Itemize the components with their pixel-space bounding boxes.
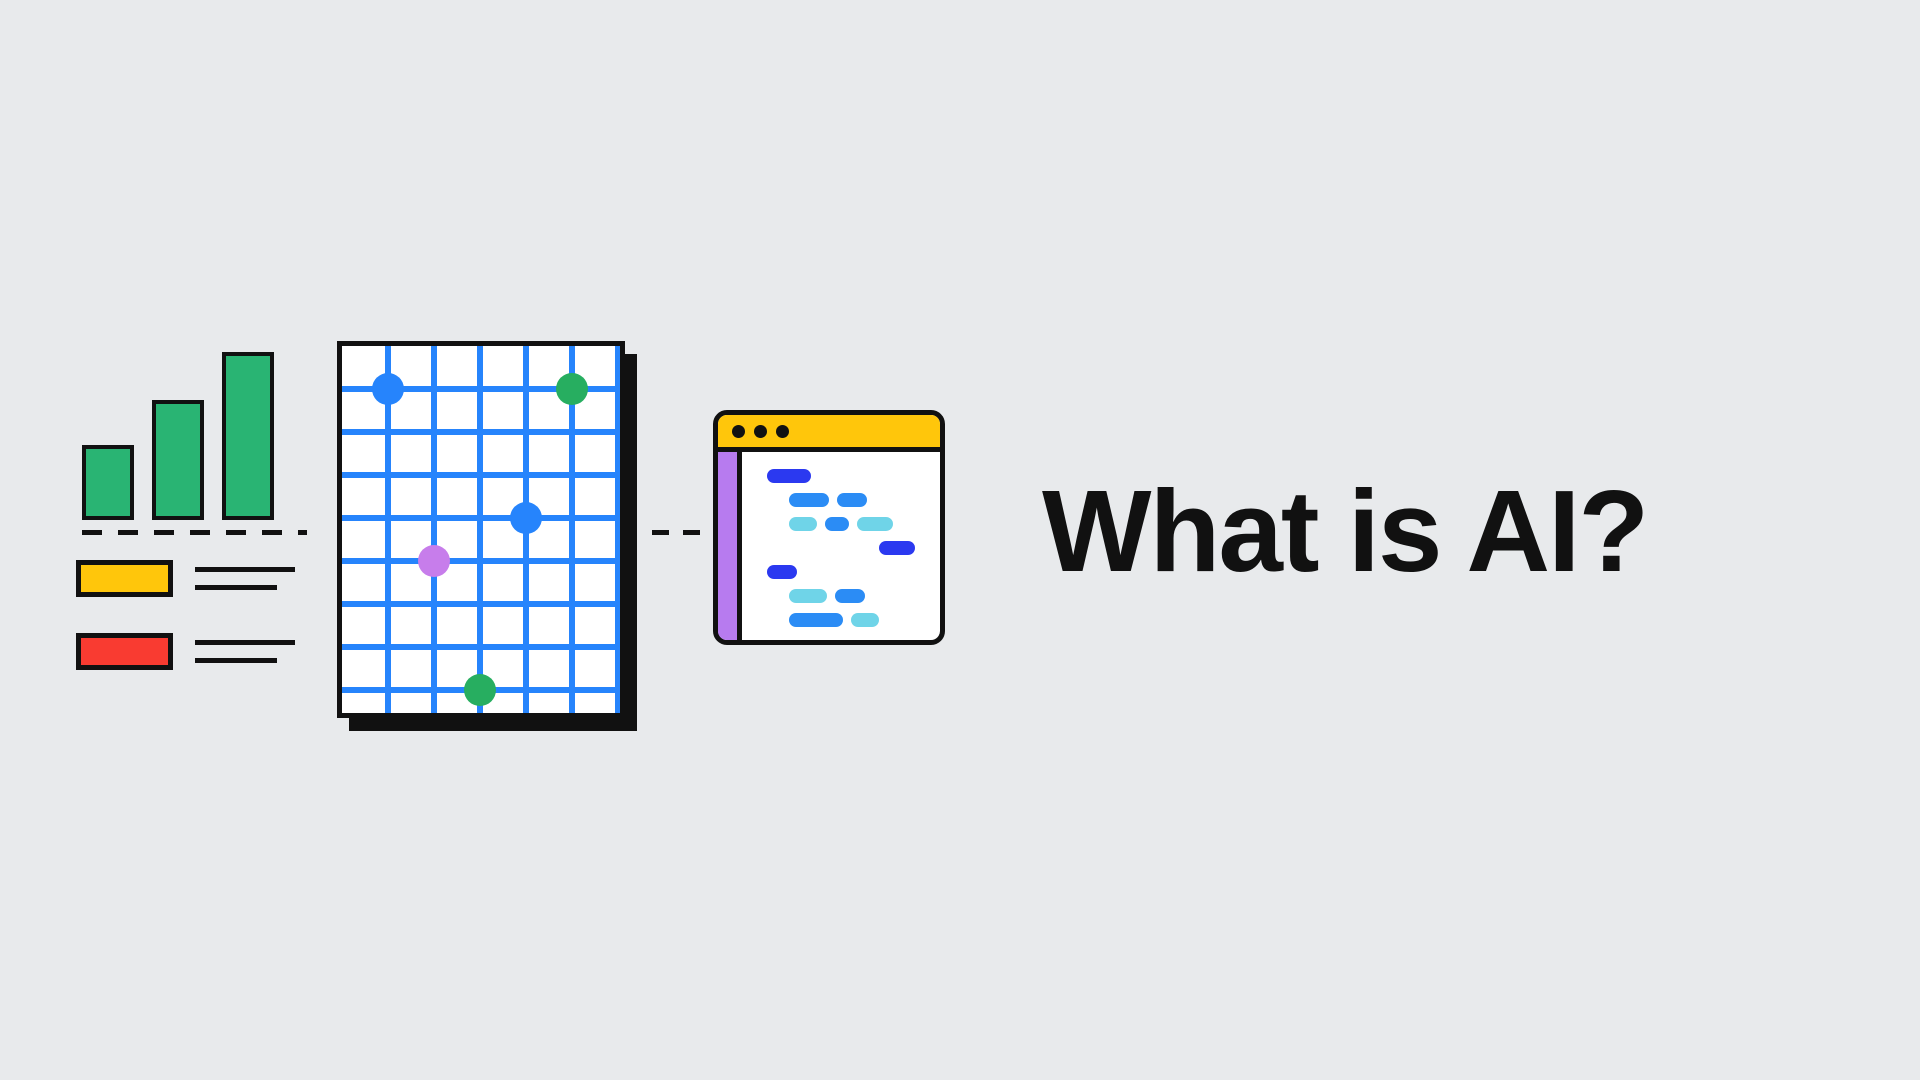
illustration-canvas: What is AI? xyxy=(0,0,1920,1080)
legend-line-1 xyxy=(195,567,295,572)
code-line-5 xyxy=(757,565,930,579)
code-token-3-2 xyxy=(825,517,849,531)
code-token-7-2 xyxy=(851,613,879,627)
legend-text-lines-yellow xyxy=(195,567,295,590)
dot-blue-1 xyxy=(372,373,404,405)
code-token-5-1 xyxy=(767,565,797,579)
legend-row-red xyxy=(76,633,295,670)
grid-line-horizontal-4 xyxy=(337,515,625,521)
legend-line-3 xyxy=(195,640,295,645)
legend-line-2 xyxy=(195,585,277,590)
window-dot-3-icon[interactable] xyxy=(776,425,789,438)
code-line-4 xyxy=(757,541,930,555)
code-token-6-1 xyxy=(789,589,827,603)
legend-line-4 xyxy=(195,658,277,663)
window-titlebar xyxy=(718,415,940,452)
legend-swatch-red xyxy=(76,633,173,670)
grid-line-vertical-2 xyxy=(431,341,437,718)
spreadsheet-grid-card xyxy=(337,341,637,731)
grid-line-vertical-6 xyxy=(615,341,621,718)
legend-row-yellow xyxy=(76,560,295,597)
dot-purple-1 xyxy=(418,545,450,577)
bar-chart-illustration xyxy=(82,340,272,520)
code-editor-window[interactable] xyxy=(713,410,945,645)
code-token-3-3 xyxy=(857,517,893,531)
grid-card-surface xyxy=(337,341,625,718)
code-line-1 xyxy=(757,469,930,483)
code-token-7-1 xyxy=(789,613,843,627)
grid-line-horizontal-6 xyxy=(337,601,625,607)
bar-chart-bar-3 xyxy=(222,352,274,520)
grid-line-horizontal-3 xyxy=(337,472,625,478)
code-token-2-2 xyxy=(837,493,867,507)
grid-line-horizontal-5 xyxy=(337,558,625,564)
window-dot-1-icon[interactable] xyxy=(732,425,745,438)
page-title: What is AI? xyxy=(1042,473,1647,589)
dot-green-1 xyxy=(556,373,588,405)
legend-swatch-yellow xyxy=(76,560,173,597)
connector-grid-to-window xyxy=(652,530,720,535)
legend-text-lines-red xyxy=(195,640,295,663)
window-dot-2-icon[interactable] xyxy=(754,425,767,438)
code-token-4-1 xyxy=(879,541,915,555)
code-content-area xyxy=(747,452,940,640)
dashed-baseline-rule xyxy=(82,530,307,535)
window-sidebar xyxy=(718,452,742,640)
code-line-7 xyxy=(757,613,930,627)
code-line-6 xyxy=(757,589,930,603)
grid-line-vertical-3 xyxy=(477,341,483,718)
code-token-1-1 xyxy=(767,469,811,483)
bar-chart-bar-1 xyxy=(82,445,134,520)
code-token-3-1 xyxy=(789,517,817,531)
grid-line-horizontal-2 xyxy=(337,429,625,435)
code-token-6-2 xyxy=(835,589,865,603)
code-line-2 xyxy=(757,493,930,507)
code-token-2-1 xyxy=(789,493,829,507)
dot-green-2 xyxy=(464,674,496,706)
code-line-3 xyxy=(757,517,930,531)
grid-line-horizontal-7 xyxy=(337,644,625,650)
bar-chart-bar-2 xyxy=(152,400,204,520)
dot-blue-2 xyxy=(510,502,542,534)
